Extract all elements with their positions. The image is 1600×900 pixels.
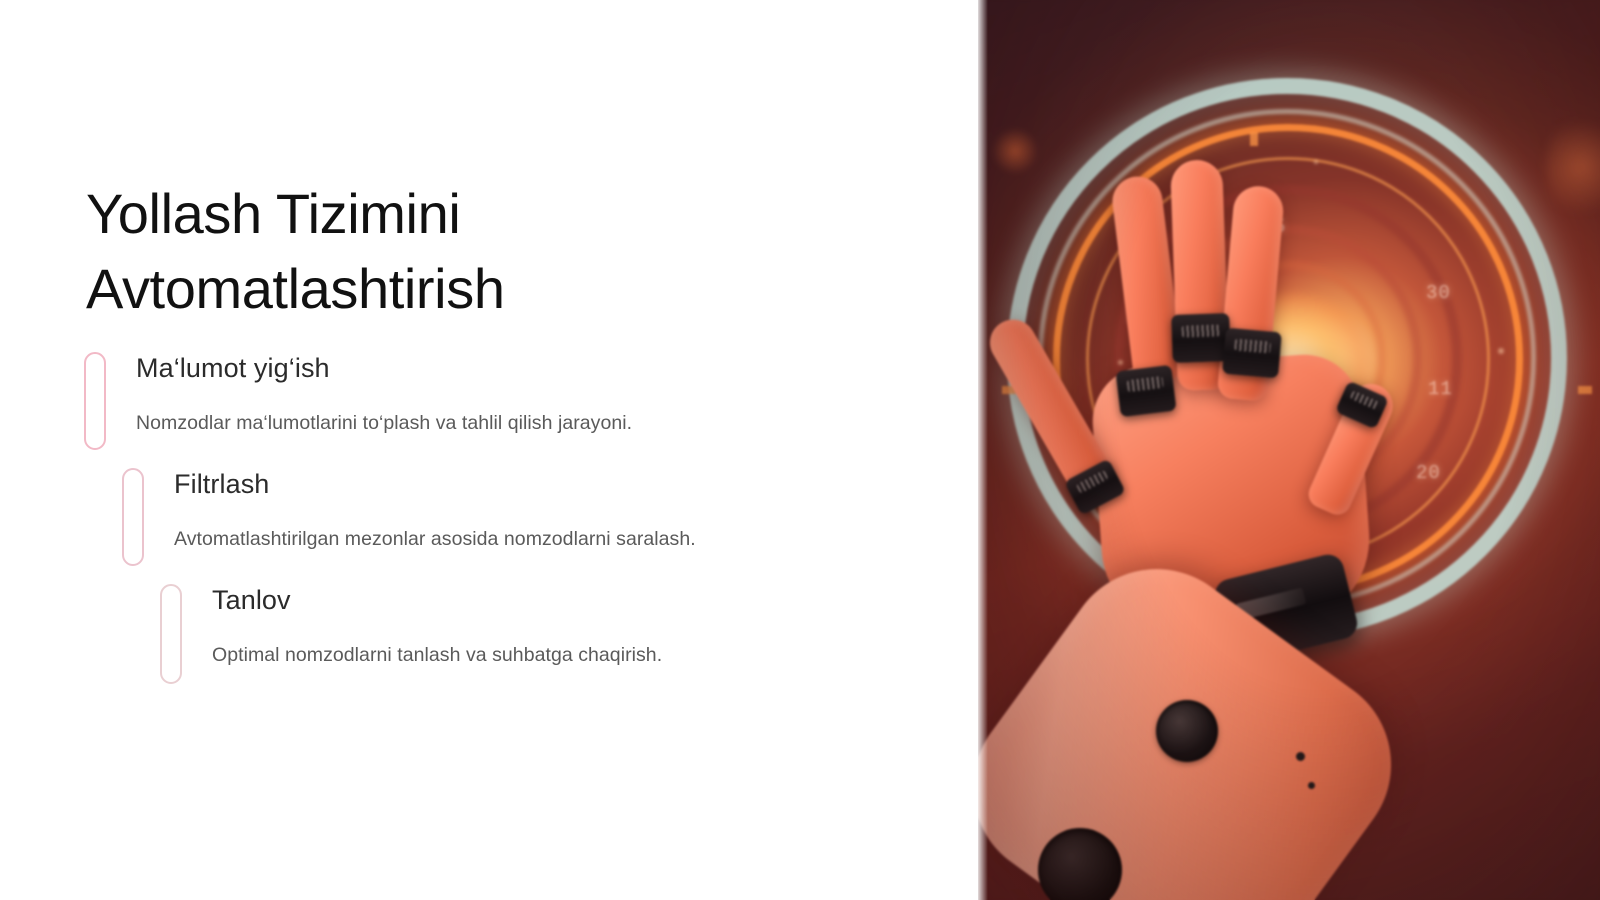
step-description: Avtomatlashtirilgan mezonlar asosida nom… (174, 526, 696, 552)
step-heading: Ma‘lumot yig‘ish (136, 354, 632, 384)
list-item: Filtrlash Avtomatlashtirilgan mezonlar a… (0, 468, 978, 566)
step-heading: Tanlov (212, 586, 662, 616)
step-accent-bar (84, 352, 106, 450)
step-accent-bar (160, 584, 182, 684)
list-item: Tanlov Optimal nomzodlarni tanlash va su… (0, 584, 978, 684)
forearm-detail-dot (1308, 782, 1315, 789)
step-body: Ma‘lumot yig‘ish Nomzodlar ma‘lumotlarin… (106, 352, 632, 450)
step-accent-bar (122, 468, 144, 566)
forearm-detail-dot (1296, 752, 1305, 761)
slide: Yollash Tizimini Avtomatlashtirish Ma‘lu… (0, 0, 1600, 900)
list-item: Ma‘lumot yig‘ish Nomzodlar ma‘lumotlarin… (0, 352, 978, 450)
hand-joint-index (1115, 365, 1176, 417)
content-pane: Yollash Tizimini Avtomatlashtirish Ma‘lu… (0, 0, 978, 900)
hand-joint-middle (1171, 313, 1231, 363)
step-body: Tanlov Optimal nomzodlarni tanlash va su… (182, 584, 662, 684)
step-list: Ma‘lumot yig‘ish Nomzodlar ma‘lumotlarin… (0, 352, 978, 702)
hand-joint-ring (1222, 328, 1282, 379)
page-title: Yollash Tizimini Avtomatlashtirish (86, 176, 886, 326)
robotic-hand (978, 0, 1600, 900)
forearm-port (1156, 700, 1218, 762)
step-body: Filtrlash Avtomatlashtirilgan mezonlar a… (144, 468, 696, 566)
step-description: Nomzodlar ma‘lumotlarini to‘plash va tah… (136, 410, 632, 436)
step-description: Optimal nomzodlarni tanlash va suhbatga … (212, 642, 662, 668)
illustration-image: 5 30 11 20 3 (978, 0, 1600, 900)
step-heading: Filtrlash (174, 470, 696, 500)
